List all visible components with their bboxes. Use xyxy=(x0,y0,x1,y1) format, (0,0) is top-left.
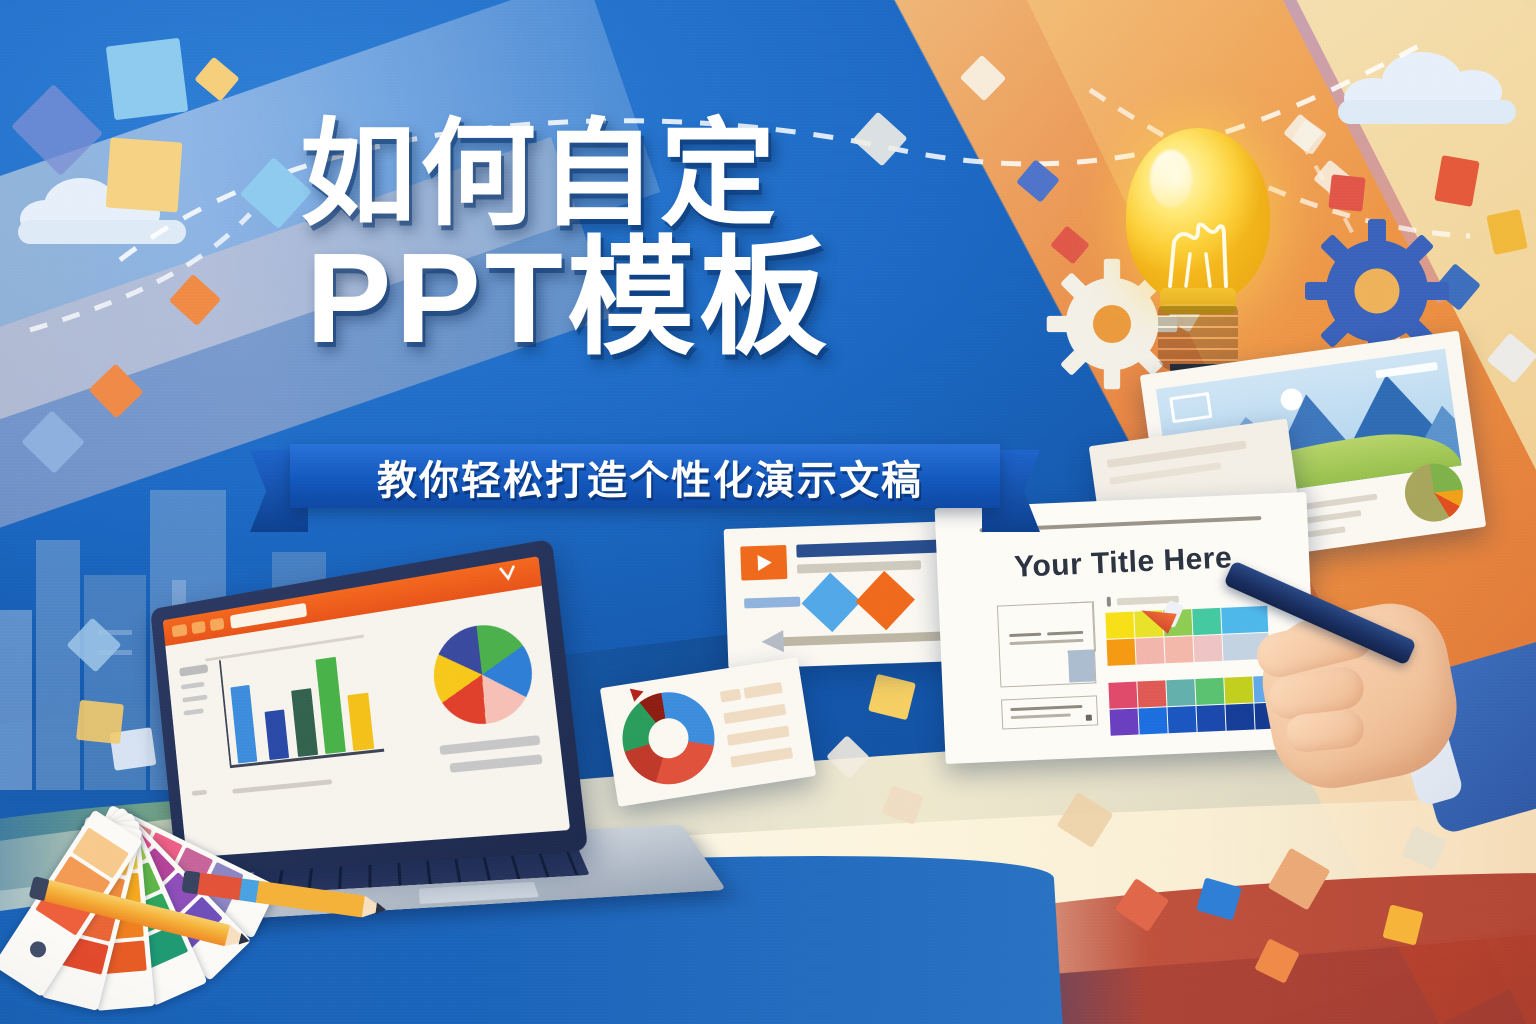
image-placeholder-icon xyxy=(1169,392,1212,423)
play-icon xyxy=(758,555,773,571)
confetti-square xyxy=(1434,155,1479,207)
pie-chart xyxy=(429,618,538,729)
diamond-shape-orange xyxy=(856,571,915,630)
address-bar[interactable] xyxy=(230,603,307,629)
layout-placeholder-footer xyxy=(1001,695,1098,729)
layout-placeholder-fill xyxy=(1068,649,1095,682)
confetti-square xyxy=(106,138,183,213)
poster-canvas: A Your Title Here xyxy=(0,0,1536,1024)
layout-placeholder-right xyxy=(1065,601,1096,652)
cursor-icon xyxy=(496,564,522,589)
diamond-shape-blue xyxy=(802,573,861,632)
swatch-label-tick xyxy=(1107,597,1111,607)
slide-card-media[interactable] xyxy=(724,521,965,669)
poster-title: 如何自定 PPT模板 xyxy=(300,118,1060,361)
arrow-left-icon xyxy=(761,630,784,653)
confetti-square xyxy=(1328,174,1365,211)
subtitle-ribbon: 教你轻松打造个性化演示文稿 xyxy=(250,444,1040,526)
ribbon-text: 教你轻松打造个性化演示文稿 xyxy=(320,446,980,508)
laptop-trackpad[interactable] xyxy=(418,881,540,904)
hand-with-pen xyxy=(1246,576,1536,876)
cloud-right-icon xyxy=(1338,52,1518,126)
confetti-square xyxy=(106,38,188,120)
video-thumbnail[interactable] xyxy=(740,545,787,581)
lightbulb-icon xyxy=(1108,128,1288,378)
title-line-1: 如何自定 xyxy=(300,118,1060,232)
title-line-2: PPT模板 xyxy=(306,236,1060,361)
